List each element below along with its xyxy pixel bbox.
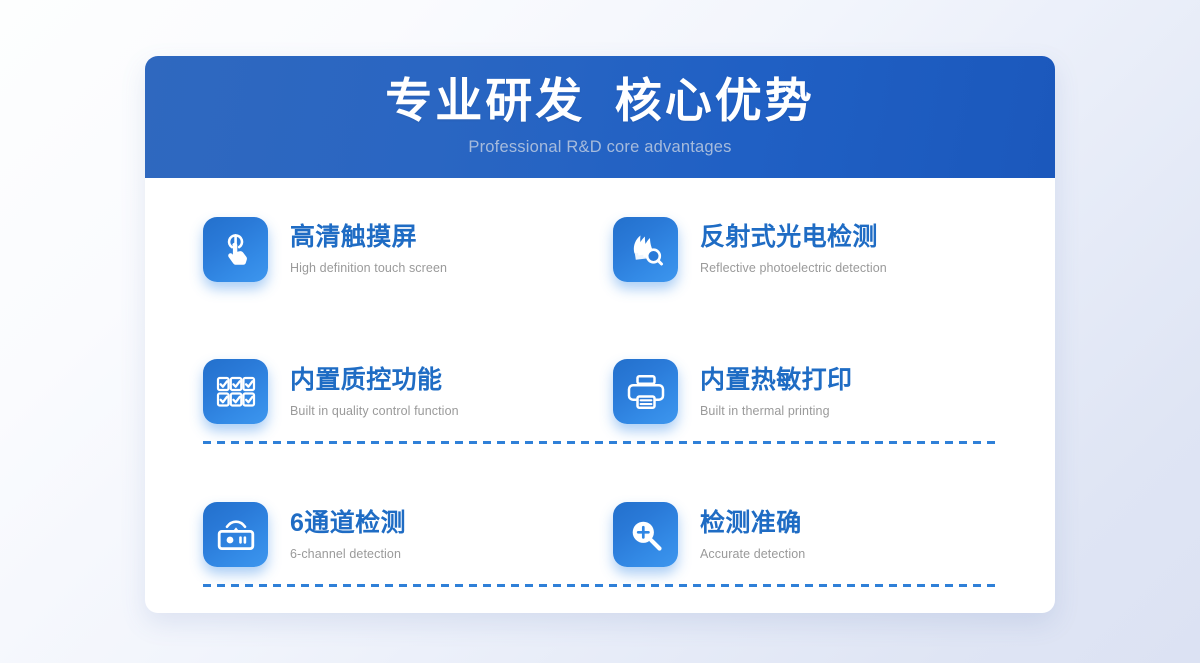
feature-item-accurate-detection[interactable]: 检测准确 Accurate detection bbox=[600, 502, 997, 567]
divider-2 bbox=[203, 584, 997, 587]
feature-text: 6通道检测 6-channel detection bbox=[268, 508, 406, 562]
feature-item-six-channel[interactable]: 6通道检测 6-channel detection bbox=[203, 502, 600, 567]
touch-screen-icon bbox=[203, 217, 268, 282]
advantages-card: 专业研发 核心优势 Professional R&D core advantag… bbox=[145, 56, 1055, 613]
feature-desc: 6-channel detection bbox=[290, 546, 406, 562]
feature-text: 反射式光电检测 Reflective photoelectric detecti… bbox=[678, 222, 887, 276]
feature-item-touch-screen[interactable]: 高清触摸屏 High definition touch screen bbox=[203, 217, 600, 282]
feature-item-quality-control[interactable]: 内置质控功能 Built in quality control function bbox=[203, 359, 600, 424]
feature-desc: Built in quality control function bbox=[290, 403, 459, 419]
reflective-photoelectric-icon bbox=[613, 217, 678, 282]
feature-title: 内置质控功能 bbox=[290, 365, 459, 396]
feature-title: 6通道检测 bbox=[290, 508, 406, 539]
features-grid: 高清触摸屏 High definition touch screen bbox=[145, 178, 1055, 613]
quality-control-grid-icon bbox=[203, 359, 268, 424]
feature-item-thermal-printer[interactable]: 内置热敏打印 Built in thermal printing bbox=[600, 359, 997, 424]
card-header: 专业研发 核心优势 Professional R&D core advantag… bbox=[145, 56, 1055, 178]
feature-desc: Accurate detection bbox=[700, 546, 805, 562]
magnifier-plus-icon bbox=[613, 502, 678, 567]
feature-text: 高清触摸屏 High definition touch screen bbox=[268, 222, 447, 276]
feature-desc: High definition touch screen bbox=[290, 260, 447, 276]
feature-desc: Reflective photoelectric detection bbox=[700, 260, 887, 276]
printer-icon bbox=[613, 359, 678, 424]
feature-desc: Built in thermal printing bbox=[700, 403, 852, 419]
feature-item-reflective-photoelectric[interactable]: 反射式光电检测 Reflective photoelectric detecti… bbox=[600, 217, 997, 282]
feature-title: 检测准确 bbox=[700, 508, 805, 539]
feature-text: 内置热敏打印 Built in thermal printing bbox=[678, 365, 852, 419]
feature-row: 高清触摸屏 High definition touch screen bbox=[145, 178, 1055, 320]
six-channel-device-icon bbox=[203, 502, 268, 567]
feature-text: 内置质控功能 Built in quality control function bbox=[268, 365, 459, 419]
page-subtitle: Professional R&D core advantages bbox=[468, 137, 731, 157]
feature-text: 检测准确 Accurate detection bbox=[678, 508, 805, 562]
page-title: 专业研发 核心优势 bbox=[385, 74, 815, 130]
feature-title: 高清触摸屏 bbox=[290, 222, 447, 253]
divider-1 bbox=[203, 441, 997, 444]
feature-title: 内置热敏打印 bbox=[700, 365, 852, 396]
feature-title: 反射式光电检测 bbox=[700, 222, 887, 253]
